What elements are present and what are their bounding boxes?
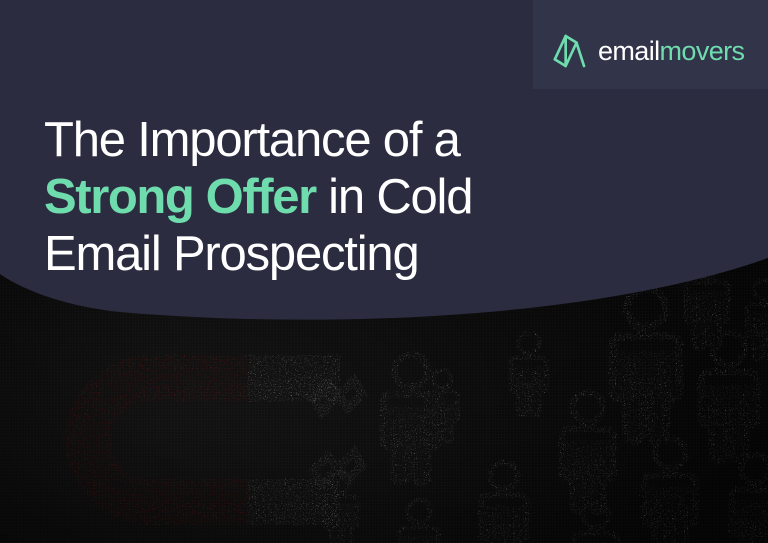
page-title: The Importance of a Strong Offer in Cold…	[44, 112, 644, 283]
headline-line-2-rest: in Cold	[316, 170, 473, 224]
blog-hero-banner: emailmovers The Importance of a Strong O…	[0, 0, 768, 543]
logo-word-email: email	[598, 36, 660, 66]
logo-wordmark: emailmovers	[598, 38, 744, 65]
headline-accent: Strong Offer	[44, 170, 316, 224]
headline-line-1: The Importance of a	[44, 112, 644, 169]
logo-word-movers: movers	[660, 36, 745, 66]
emailmovers-logo[interactable]: emailmovers	[549, 31, 744, 71]
headline-line-3: Email Prospecting	[44, 226, 644, 283]
headline-line-2: Strong Offer in Cold	[44, 169, 644, 226]
emailmovers-butterfly-m-mark	[549, 31, 589, 71]
